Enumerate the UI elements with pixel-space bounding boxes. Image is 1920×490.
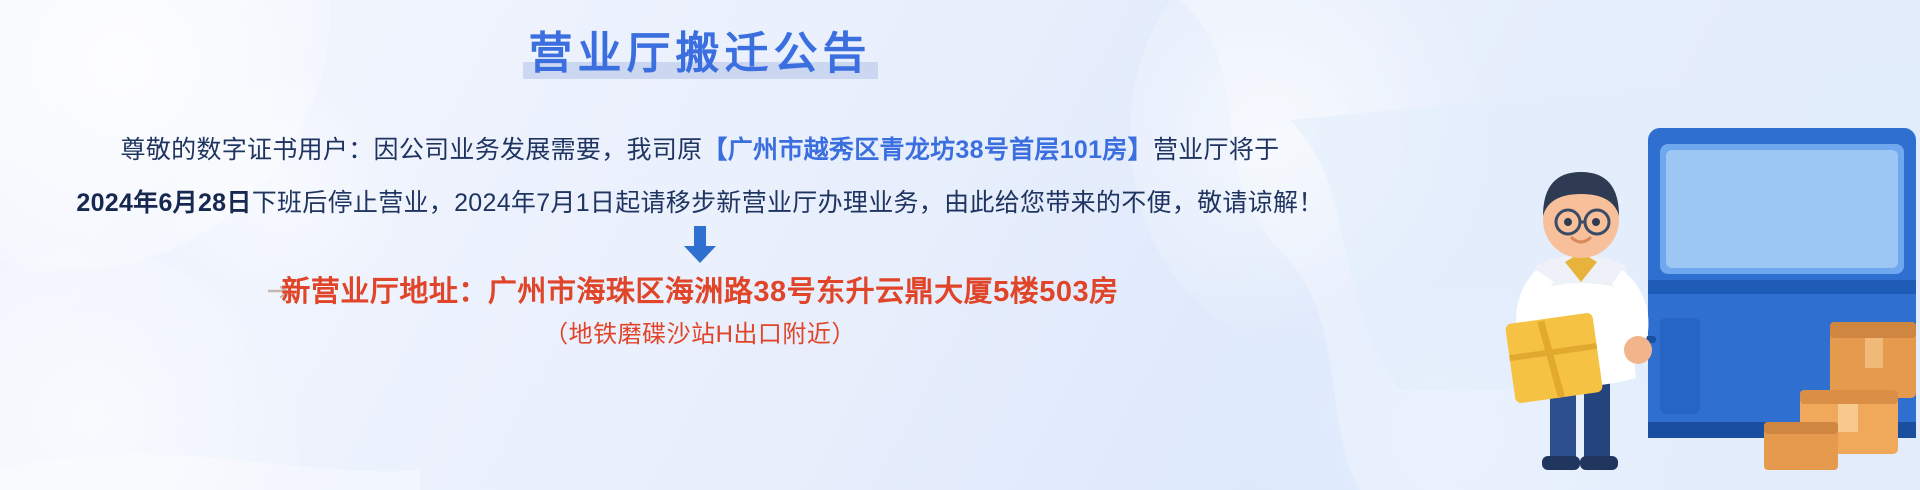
down-arrow-icon (683, 226, 717, 264)
announcement-text-column: 营业厅搬迁公告 尊敬的数字证书用户：因公司业务发展需要，我司原【广州市越秀区青龙… (0, 0, 1400, 490)
line2-rest-text: 下班后停止营业，2024年7月1日起请移步新营业厅办理业务，由此给您带来的不便，… (252, 189, 1324, 217)
announcement-paragraph-line-1: 尊敬的数字证书用户：因公司业务发展需要，我司原【广州市越秀区青龙坊38号首层10… (0, 133, 1400, 167)
line1-prefix-text: 尊敬的数字证书用户：因公司业务发展需要，我司原 (121, 136, 703, 164)
new-office-address-note: （地铁磨碟沙站H出口附近） (0, 318, 1400, 352)
delivery-truck-courier-illustration (1360, 70, 1920, 490)
down-arrow-wrapper (0, 226, 1400, 269)
page-title-wrapper: 营业厅搬迁公告 (0, 26, 1400, 82)
closing-date: 2024年6月28日 (76, 189, 251, 217)
courier-character (1505, 172, 1652, 470)
line1-suffix-text: 营业厅将于 (1153, 136, 1280, 164)
relocation-announcement-banner: 营业厅搬迁公告 尊敬的数字证书用户：因公司业务发展需要，我司原【广州市越秀区青龙… (0, 0, 1920, 490)
new-office-address: 新营业厅地址：广州市海珠区海洲路38号东升云鼎大厦5楼503房 (0, 272, 1400, 312)
page-title: 营业厅搬迁公告 (529, 29, 872, 78)
old-office-address: 【广州市越秀区青龙坊38号首层101房】 (702, 136, 1153, 164)
yellow-parcel (1505, 312, 1603, 403)
announcement-paragraph-line-2: 2024年6月28日下班后停止营业，2024年7月1日起请移步新营业厅办理业务，… (0, 186, 1400, 220)
